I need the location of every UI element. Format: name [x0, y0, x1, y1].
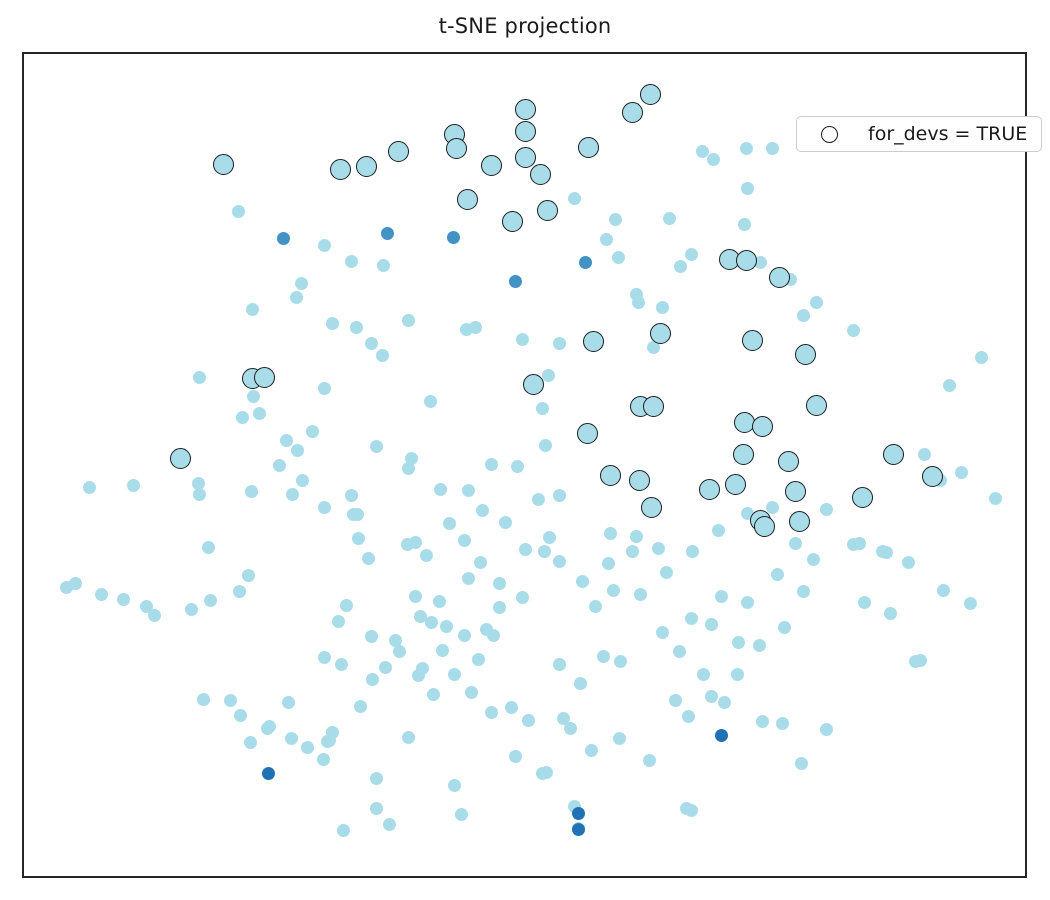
- scatter-point: [117, 593, 130, 606]
- scatter-point: [876, 545, 889, 558]
- scatter-point: [902, 556, 915, 569]
- scatter-point: [365, 337, 378, 350]
- scatter-point: [185, 603, 198, 616]
- scatter-point-highlighted: [356, 156, 377, 177]
- scatter-point: [858, 596, 871, 609]
- scatter-point: [318, 501, 331, 514]
- scatter-point: [609, 213, 622, 226]
- scatter-point: [553, 555, 566, 568]
- scatter-point: [83, 481, 96, 494]
- scatter-point: [909, 655, 922, 668]
- scatter-point: [572, 807, 585, 820]
- scatter-point-highlighted: [734, 412, 755, 433]
- scatter-point: [604, 527, 617, 540]
- scatter-point-highlighted: [742, 330, 763, 351]
- scatter-point: [656, 301, 669, 314]
- scatter-point: [244, 736, 257, 749]
- scatter-point: [420, 549, 433, 562]
- scatter-point: [416, 662, 429, 675]
- scatter-point: [543, 531, 556, 544]
- scatter-point: [789, 537, 802, 550]
- scatter-point: [458, 534, 471, 547]
- scatter-point: [732, 636, 745, 649]
- scatter-point: [476, 504, 489, 517]
- scatter-point: [499, 516, 512, 529]
- scatter-point: [193, 488, 206, 501]
- scatter-point: [370, 772, 383, 785]
- scatter-point-highlighted: [213, 154, 234, 175]
- scatter-point: [674, 260, 687, 273]
- scatter-point-highlighted: [795, 344, 816, 365]
- scatter-point: [847, 324, 860, 337]
- scatter-point-highlighted: [481, 155, 502, 176]
- scatter-point: [564, 722, 577, 735]
- scatter-point: [197, 693, 210, 706]
- scatter-point-highlighted: [736, 250, 757, 271]
- scatter-point: [465, 686, 478, 699]
- scatter-point: [458, 629, 471, 642]
- scatter-point: [536, 402, 549, 415]
- scatter-point: [253, 407, 266, 420]
- scatter-point: [715, 590, 728, 603]
- scatter-point-highlighted: [754, 516, 775, 537]
- scatter-point: [553, 489, 566, 502]
- scatter-point: [685, 612, 698, 625]
- plot-area: for_devs = TRUE: [22, 52, 1027, 878]
- scatter-point: [427, 688, 440, 701]
- scatter-point: [589, 600, 602, 613]
- scatter-point: [522, 714, 535, 727]
- legend-marker-icon: [821, 126, 838, 143]
- scatter-point: [607, 584, 620, 597]
- scatter-point: [377, 259, 390, 272]
- scatter-point: [193, 371, 206, 384]
- scatter-point: [731, 668, 744, 681]
- scatter-point-highlighted: [537, 200, 558, 221]
- scatter-point: [263, 720, 276, 733]
- page-title: t-SNE projection: [0, 14, 1050, 38]
- scatter-point: [964, 597, 977, 610]
- scatter-point: [402, 314, 415, 327]
- scatter-point: [643, 754, 656, 767]
- scatter-point: [536, 767, 549, 780]
- scatter-point: [652, 542, 665, 555]
- scatter-point: [511, 460, 524, 473]
- scatter-point-highlighted: [583, 331, 604, 352]
- scatter-point-highlighted: [622, 102, 643, 123]
- scatter-point-highlighted: [641, 497, 662, 518]
- scatter-point: [532, 493, 545, 506]
- scatter-point: [697, 668, 710, 681]
- scatter-point: [379, 661, 392, 674]
- scatter-point: [485, 458, 498, 471]
- scatter-point: [472, 653, 485, 666]
- scatter-point: [505, 701, 518, 714]
- scatter-point-highlighted: [515, 99, 536, 120]
- scatter-point: [434, 483, 447, 496]
- scatter-point: [553, 658, 566, 671]
- scatter-point: [542, 369, 555, 382]
- scatter-point: [685, 248, 698, 261]
- scatter-point: [943, 379, 956, 392]
- scatter-point: [673, 645, 686, 658]
- scatter-point: [365, 630, 378, 643]
- scatter-point: [60, 581, 73, 594]
- scatter-point-highlighted: [254, 367, 275, 388]
- scatter-point: [740, 142, 753, 155]
- scatter-point: [448, 668, 461, 681]
- scatter-point-highlighted: [852, 487, 873, 508]
- scatter-point: [614, 655, 627, 668]
- scatter-point: [440, 620, 453, 633]
- scatter-point-highlighted: [502, 211, 523, 232]
- scatter-point: [937, 584, 950, 597]
- scatter-point: [741, 596, 754, 609]
- scatter-point: [626, 545, 639, 558]
- scatter-point: [579, 256, 592, 269]
- scatter-point: [95, 588, 108, 601]
- scatter-point-highlighted: [778, 451, 799, 472]
- scatter-point-highlighted: [600, 465, 621, 486]
- scatter-point-highlighted: [523, 374, 544, 395]
- scatter-point: [242, 569, 255, 582]
- scatter-point: [738, 218, 751, 231]
- scatter-point-highlighted: [922, 466, 943, 487]
- scatter-point: [741, 182, 754, 195]
- scatter-point: [474, 556, 487, 569]
- scatter-point: [366, 673, 379, 686]
- scatter-point: [519, 543, 532, 556]
- scatter-point: [485, 706, 498, 719]
- scatter-point: [797, 585, 810, 598]
- scatter-point: [539, 439, 552, 452]
- scatter-point: [778, 621, 791, 634]
- scatter-point-highlighted: [446, 138, 467, 159]
- scatter-point: [236, 411, 249, 424]
- scatter-point: [345, 255, 358, 268]
- scatter-point: [389, 634, 402, 647]
- scatter-point-highlighted: [883, 444, 904, 465]
- scatter-point: [686, 545, 699, 558]
- scatter-point: [753, 639, 766, 652]
- scatter-point-highlighted: [769, 267, 790, 288]
- scatter-point: [409, 536, 422, 549]
- scatter-point: [383, 818, 396, 831]
- scatter-points-layer: [24, 54, 1025, 876]
- scatter-point-highlighted: [388, 141, 409, 162]
- scatter-point: [705, 618, 718, 631]
- scatter-point: [493, 601, 506, 614]
- scatter-point: [246, 303, 259, 316]
- scatter-point-highlighted: [752, 416, 773, 437]
- scatter-point-highlighted: [577, 423, 598, 444]
- legend[interactable]: for_devs = TRUE: [796, 116, 1042, 152]
- scatter-point: [370, 802, 383, 815]
- scatter-point: [224, 694, 237, 707]
- scatter-point: [424, 395, 437, 408]
- tsne-figure: t-SNE projection for_devs = TRUE: [0, 0, 1050, 900]
- scatter-point: [352, 532, 365, 545]
- scatter-point: [448, 779, 461, 792]
- scatter-point: [337, 824, 350, 837]
- scatter-point: [436, 644, 449, 657]
- scatter-point: [955, 466, 968, 479]
- scatter-point: [682, 710, 695, 723]
- scatter-point: [568, 192, 581, 205]
- scatter-point: [538, 545, 551, 558]
- scatter-point: [350, 321, 363, 334]
- scatter-point-highlighted: [515, 121, 536, 142]
- scatter-point: [414, 610, 427, 623]
- scatter-point: [332, 615, 345, 628]
- scatter-point-highlighted: [643, 396, 664, 417]
- scatter-point: [232, 205, 245, 218]
- scatter-point: [402, 462, 415, 475]
- scatter-point: [715, 729, 728, 742]
- scatter-point: [696, 145, 709, 158]
- scatter-point: [291, 444, 304, 457]
- scatter-point: [306, 425, 319, 438]
- scatter-point: [810, 296, 823, 309]
- scatter-point: [318, 239, 331, 252]
- scatter-point: [480, 623, 493, 636]
- scatter-point: [612, 251, 625, 264]
- scatter-point: [340, 599, 353, 612]
- scatter-point-highlighted: [733, 444, 754, 465]
- scatter-point: [669, 694, 682, 707]
- scatter-point: [326, 726, 339, 739]
- scatter-point: [493, 577, 506, 590]
- scatter-point-highlighted: [170, 448, 191, 469]
- scatter-point: [433, 595, 446, 608]
- scatter-point: [469, 321, 482, 334]
- scatter-point: [602, 557, 615, 570]
- scatter-point: [718, 696, 731, 709]
- scatter-point: [600, 233, 613, 246]
- scatter-point: [634, 588, 647, 601]
- scatter-point: [847, 538, 860, 551]
- scatter-point: [286, 488, 299, 501]
- scatter-point: [462, 572, 475, 585]
- scatter-point: [376, 349, 389, 362]
- scatter-point-highlighted: [330, 159, 351, 180]
- scatter-point: [381, 227, 394, 240]
- scatter-point: [613, 732, 626, 745]
- scatter-point: [462, 484, 475, 497]
- scatter-point: [318, 651, 331, 664]
- scatter-point: [247, 390, 260, 403]
- scatter-point-highlighted: [640, 84, 661, 105]
- scatter-point: [335, 658, 348, 671]
- scatter-point: [660, 566, 673, 579]
- scatter-point: [766, 501, 779, 514]
- scatter-point-highlighted: [457, 189, 478, 210]
- scatter-point: [280, 434, 293, 447]
- scatter-point-highlighted: [785, 481, 806, 502]
- scatter-point: [771, 568, 784, 581]
- scatter-point: [707, 153, 720, 166]
- scatter-point-highlighted: [629, 470, 650, 491]
- scatter-point: [820, 503, 833, 516]
- scatter-point: [509, 750, 522, 763]
- scatter-point: [576, 575, 589, 588]
- scatter-point: [354, 700, 367, 713]
- scatter-point: [285, 732, 298, 745]
- scatter-point: [597, 650, 610, 663]
- scatter-point: [585, 744, 598, 757]
- scatter-point-highlighted: [650, 323, 671, 344]
- scatter-point-highlighted: [725, 474, 746, 495]
- scatter-point-highlighted: [789, 511, 810, 532]
- scatter-point: [326, 317, 339, 330]
- scatter-point: [262, 767, 275, 780]
- scatter-point: [795, 757, 808, 770]
- scatter-point: [712, 524, 725, 537]
- scatter-point: [705, 690, 718, 703]
- scatter-point: [140, 600, 153, 613]
- scatter-point: [318, 382, 331, 395]
- scatter-point: [345, 489, 358, 502]
- scatter-point: [516, 591, 529, 604]
- scatter-point-highlighted: [578, 137, 599, 158]
- scatter-point: [277, 232, 290, 245]
- legend-label: for_devs = TRUE: [868, 123, 1027, 145]
- scatter-point: [204, 594, 217, 607]
- scatter-point: [443, 517, 456, 530]
- scatter-point-highlighted: [515, 147, 536, 168]
- scatter-point: [820, 723, 833, 736]
- scatter-point-highlighted: [530, 164, 551, 185]
- scatter-point: [553, 337, 566, 350]
- scatter-point: [574, 677, 587, 690]
- scatter-point: [127, 479, 140, 492]
- scatter-point: [234, 709, 247, 722]
- scatter-point: [509, 275, 522, 288]
- scatter-point: [202, 541, 215, 554]
- scatter-point: [797, 309, 810, 322]
- scatter-point-highlighted: [806, 395, 827, 416]
- scatter-point: [402, 731, 415, 744]
- scatter-point: [630, 530, 643, 543]
- scatter-point: [766, 142, 779, 155]
- scatter-point: [370, 440, 383, 453]
- scatter-point: [685, 804, 698, 817]
- scatter-point: [296, 474, 309, 487]
- scatter-point: [347, 508, 360, 521]
- scatter-point: [409, 590, 422, 603]
- scatter-point: [572, 823, 585, 836]
- scatter-point: [282, 696, 295, 709]
- scatter-point: [776, 717, 789, 730]
- scatter-point: [989, 492, 1002, 505]
- scatter-point: [632, 296, 645, 309]
- scatter-point: [807, 553, 820, 566]
- scatter-point: [918, 448, 931, 461]
- scatter-point: [663, 212, 676, 225]
- scatter-point: [295, 277, 308, 290]
- scatter-point: [455, 808, 468, 821]
- scatter-point: [884, 607, 897, 620]
- scatter-point: [233, 585, 246, 598]
- scatter-point: [975, 351, 988, 364]
- scatter-point: [362, 552, 375, 565]
- scatter-point: [290, 291, 303, 304]
- scatter-point-highlighted: [699, 479, 720, 500]
- scatter-point: [245, 485, 258, 498]
- scatter-point: [656, 626, 669, 639]
- scatter-point: [447, 231, 460, 244]
- scatter-point: [273, 459, 286, 472]
- scatter-point: [317, 753, 330, 766]
- scatter-point: [301, 741, 314, 754]
- scatter-point: [516, 333, 529, 346]
- scatter-point: [756, 715, 769, 728]
